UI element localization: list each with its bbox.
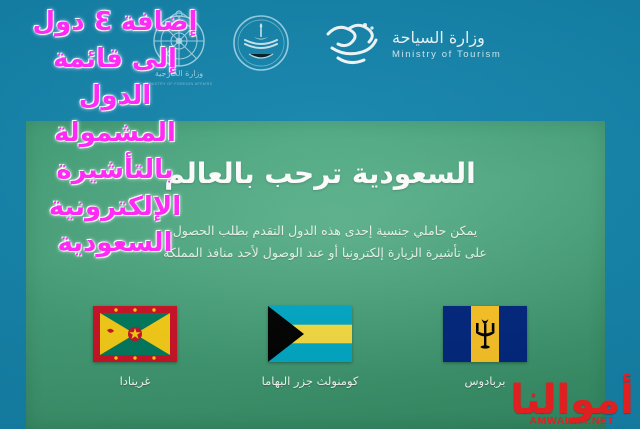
ministry-of-tourism-logo: وزارة السياحة Ministry of Tourism bbox=[320, 14, 530, 76]
barbados-flag-icon bbox=[443, 306, 527, 362]
ministry-of-foreign-affairs-emblem: وزارة الخارجية MINISTRY OF FOREIGN AFFAI… bbox=[140, 8, 218, 90]
news-image-banner: وزارة الخارجية MINISTRY OF FOREIGN AFFAI… bbox=[0, 0, 640, 429]
flag-item-grenada: غرينادا bbox=[60, 306, 210, 388]
ministry-logo-row: وزارة الخارجية MINISTRY OF FOREIGN AFFAI… bbox=[0, 0, 640, 120]
tourism-arabic-label: وزارة السياحة bbox=[392, 30, 485, 46]
bahamas-flag-icon bbox=[268, 306, 352, 362]
grenada-flag-icon bbox=[93, 306, 177, 362]
mofa-arabic-label: وزارة الخارجية bbox=[155, 69, 203, 78]
flag-caption-bahamas: كومنولث جزر البهاما bbox=[262, 374, 359, 388]
saudi-national-emblem bbox=[232, 14, 290, 72]
tourism-calligraphy-mark bbox=[320, 18, 384, 72]
mofa-english-label: MINISTRY OF FOREIGN AFFAIRS bbox=[146, 82, 213, 86]
poster-headline: السعودية ترحب بالعالم bbox=[0, 157, 640, 190]
flag-item-barbados: بربادوس bbox=[410, 306, 560, 388]
tourism-english-label: Ministry of Tourism bbox=[392, 50, 501, 60]
flag-caption-grenada: غرينادا bbox=[120, 374, 151, 388]
poster-subtext-line1: يمكن حاملي جنسية إحدى هذه الدول التقدم ب… bbox=[90, 220, 560, 242]
country-flags-row: غرينادا كومنولث جزر البهاما bbox=[60, 306, 560, 388]
poster-subtext: يمكن حاملي جنسية إحدى هذه الدول التقدم ب… bbox=[90, 220, 560, 264]
poster-subtext-line2: على تأشيرة الزيارة إلكترونيا أو عند الوص… bbox=[90, 242, 560, 264]
flag-caption-barbados: بربادوس bbox=[465, 374, 506, 388]
flag-item-bahamas: كومنولث جزر البهاما bbox=[235, 306, 385, 388]
